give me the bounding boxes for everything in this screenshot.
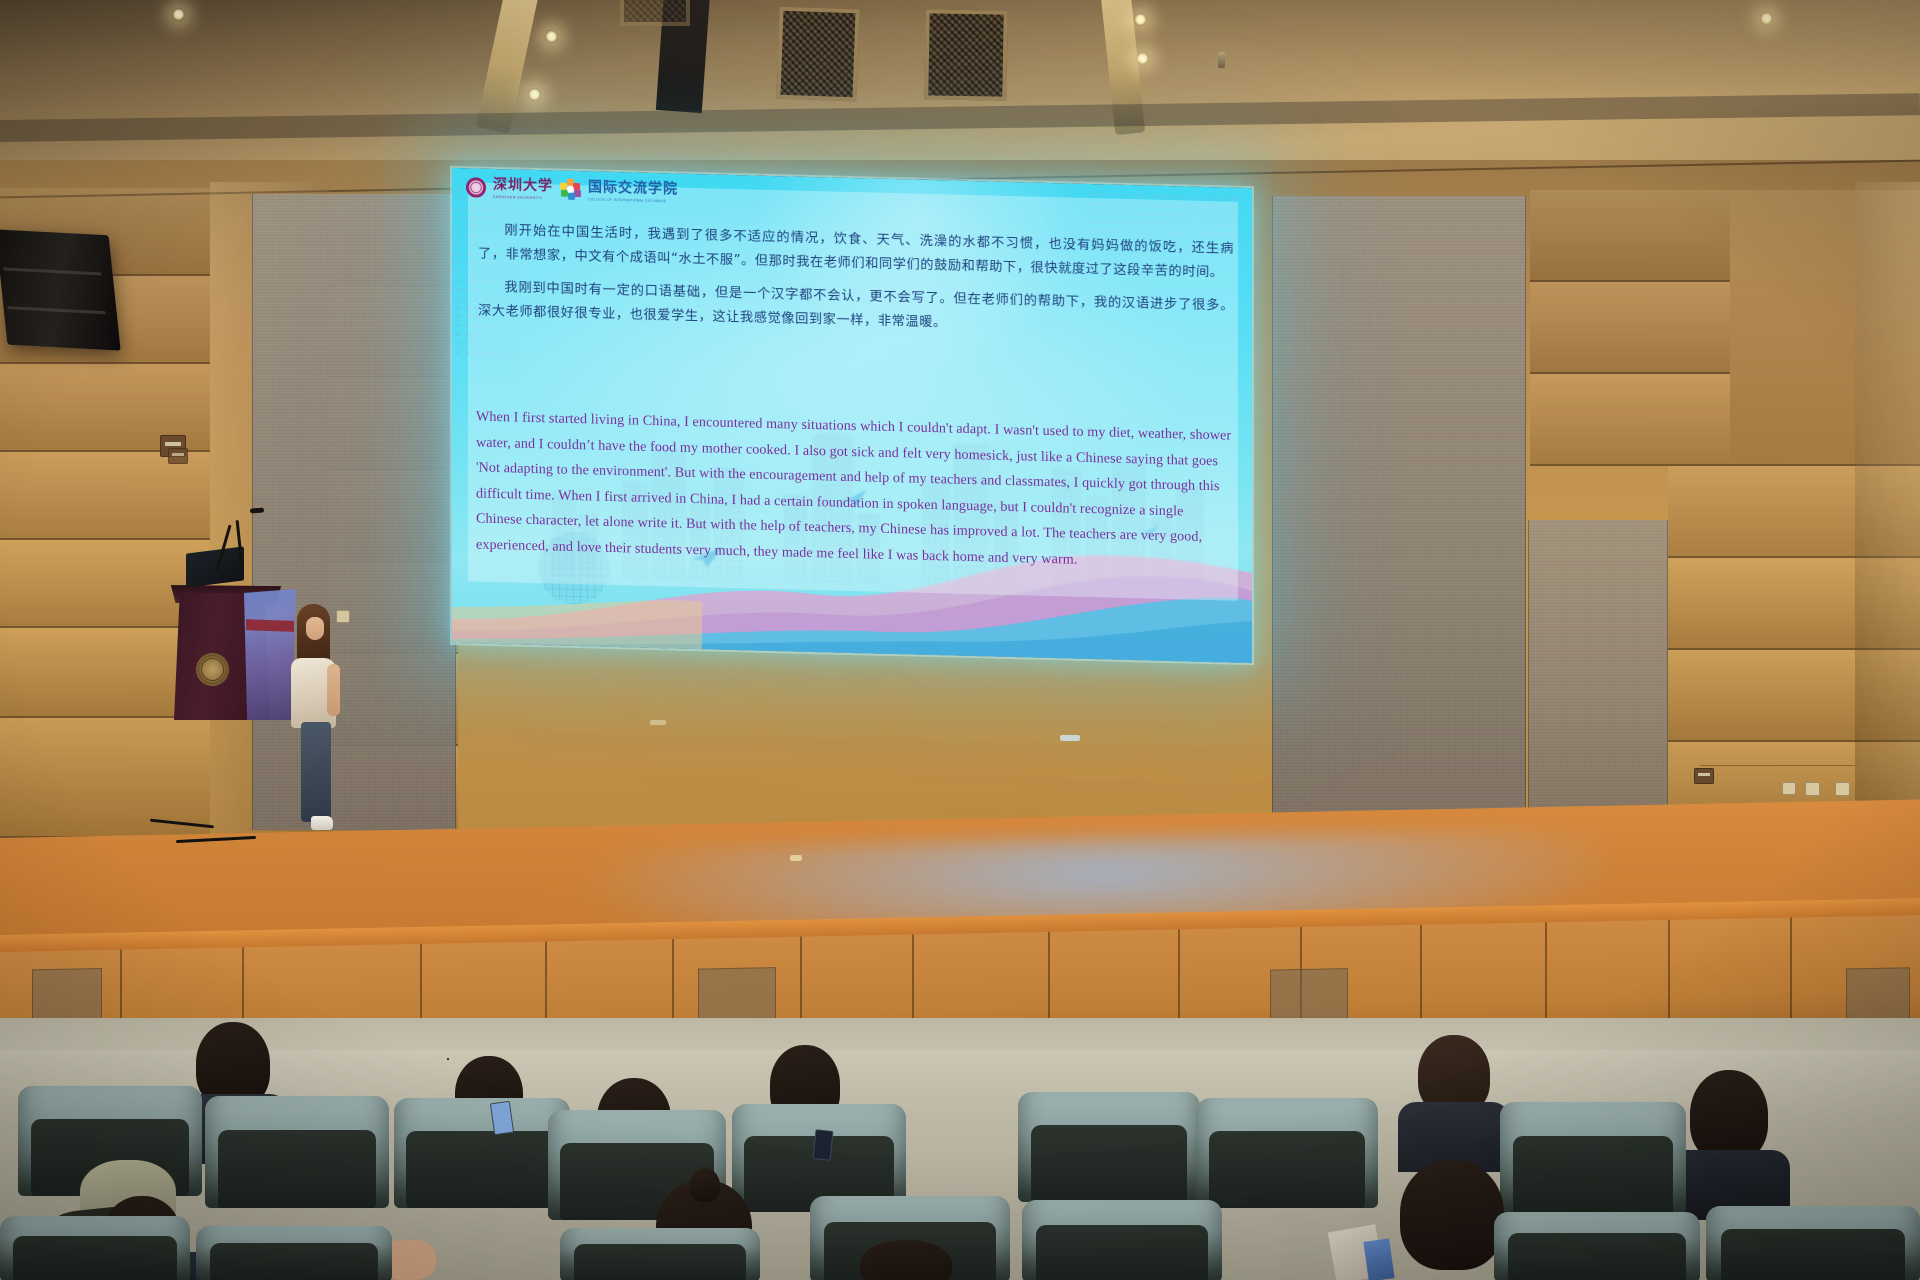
stage-object-marker (650, 720, 666, 725)
gray-acoustic-panel-far-right (1528, 520, 1668, 838)
flower-logo-icon (560, 179, 581, 201)
auditorium-seat[interactable] (0, 1216, 190, 1280)
auditorium-scene: 深圳大学 SHENZHEN UNIVERSITY 国际交流学院 COLLEGE … (0, 0, 1920, 1280)
attendee-head (447, 1058, 449, 1060)
slide-surface: 深圳大学 SHENZHEN UNIVERSITY 国际交流学院 COLLEGE … (452, 168, 1252, 663)
wall-power-outlet[interactable] (1782, 782, 1796, 795)
stage-object-clip (1060, 735, 1080, 741)
recessed-downlight (172, 8, 185, 21)
ceiling-vent-grille (776, 7, 859, 102)
college-name-block: 国际交流学院 COLLEGE OF INTERNATIONAL EXCHANGE (588, 178, 678, 203)
sprinkler-head (1218, 52, 1225, 68)
english-paragraph: When I first started living in China, I … (476, 404, 1232, 576)
auditorium-seat[interactable] (394, 1098, 570, 1208)
wood-wall-panel (1530, 282, 1730, 374)
recessed-downlight (1136, 52, 1149, 65)
wooden-lectern (166, 565, 286, 720)
attendee-head (1690, 1070, 1768, 1162)
wood-wall-panel (1530, 190, 1730, 282)
auditorium-seat[interactable] (1022, 1200, 1222, 1280)
phone-screen[interactable] (490, 1101, 514, 1135)
attendee-phone-blue[interactable] (1363, 1238, 1394, 1280)
auditorium-seat[interactable] (1018, 1092, 1200, 1202)
auditorium-seat[interactable] (1494, 1212, 1700, 1280)
english-text-block: When I first started living in China, I … (476, 404, 1232, 576)
wall-conduit (1700, 765, 1855, 766)
chinese-text-block: 刚开始在中国生活时，我遇到了很多不适应的情况，饮食、天气、洗澡的水都不习惯，也没… (478, 219, 1234, 343)
university-name-block: 深圳大学 SHENZHEN UNIVERSITY (493, 176, 553, 201)
stage-object-tape (790, 855, 802, 861)
attendee-head (1400, 1160, 1504, 1270)
wall-control-box[interactable] (1694, 768, 1714, 784)
recessed-downlight (545, 30, 558, 43)
presenter-shoe (311, 816, 333, 830)
line-array-speaker (0, 229, 121, 350)
recessed-downlight (528, 88, 541, 101)
auditorium-seat[interactable] (1500, 1102, 1686, 1214)
college-name-cn: 国际交流学院 (588, 179, 678, 197)
phone-device[interactable] (812, 1129, 833, 1161)
wall-power-outlet[interactable] (1805, 782, 1820, 796)
wood-wall-panel (0, 718, 210, 838)
attendee-head (860, 1240, 952, 1280)
wood-wall-pillar-right (1855, 182, 1920, 842)
auditorium-seat[interactable] (1706, 1206, 1920, 1280)
wood-wall-panel (1530, 374, 1730, 466)
auditorium-seat[interactable] (196, 1226, 392, 1280)
auditorium-seat[interactable] (560, 1228, 760, 1280)
ceiling-vent-grille (924, 9, 1008, 100)
university-seal-icon (466, 177, 486, 198)
university-crest-seal (196, 653, 229, 686)
ceiling-vent-grille (620, 0, 690, 26)
microphone-head (250, 508, 264, 514)
auditorium-seat[interactable] (1196, 1098, 1378, 1208)
presenter-face (306, 617, 324, 640)
recessed-downlight (1760, 12, 1773, 25)
auditorium-seat[interactable] (205, 1096, 389, 1208)
presenter-trousers (301, 722, 331, 822)
wood-wall-panel (0, 452, 210, 540)
projection-screen: 深圳大学 SHENZHEN UNIVERSITY 国际交流学院 COLLEGE … (452, 168, 1252, 663)
university-name-cn: 深圳大学 (493, 177, 553, 195)
wall-speaker-box (168, 448, 188, 464)
presenter-arm (327, 664, 340, 716)
gray-acoustic-panel (1272, 196, 1526, 836)
attendee-ponytail (690, 1168, 720, 1202)
ceiling-soffit-shadow (0, 93, 1920, 142)
wall-power-outlet[interactable] (1835, 782, 1850, 796)
recessed-downlight (1134, 13, 1147, 26)
presenter-at-podium (283, 604, 341, 836)
laptop-on-lectern[interactable] (186, 546, 244, 587)
